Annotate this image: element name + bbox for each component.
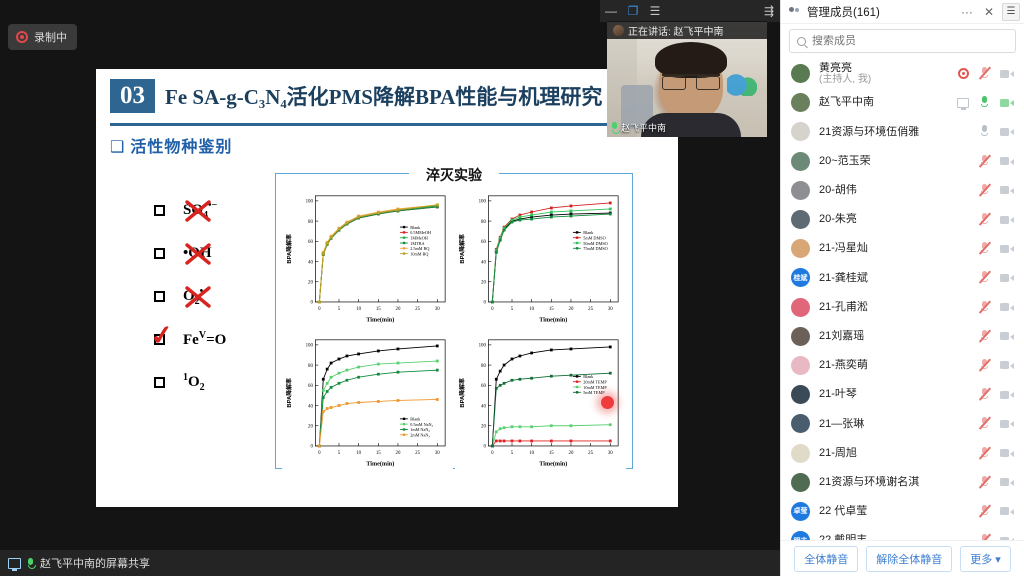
camera-off-icon[interactable] [1000, 244, 1014, 254]
svg-text:5mM DMSO: 5mM DMSO [583, 235, 605, 240]
participant-name-text: 21-冯星灿 [819, 242, 868, 254]
participant-name-text: 21-周旭 [819, 447, 857, 459]
svg-text:60: 60 [308, 240, 313, 245]
screen-share-icon[interactable] [957, 98, 969, 108]
participant-name-text: 21-龚桂斌 [819, 272, 868, 284]
avatar [791, 385, 810, 404]
screen-share-icon [8, 558, 21, 569]
participant-row[interactable]: 21资源与环境伍俏雅 [781, 117, 1024, 146]
svg-text:100: 100 [479, 343, 487, 348]
svg-text:80: 80 [308, 363, 313, 368]
svg-text:Blank: Blank [583, 374, 594, 379]
participant-status-icons [978, 155, 1014, 168]
mic-muted-icon[interactable] [978, 447, 991, 460]
svg-text:2mM NaN₃: 2mM NaN₃ [410, 432, 430, 437]
svg-text:20: 20 [569, 307, 574, 312]
video-person-glasses [662, 74, 720, 87]
panel-menu-icon[interactable]: ☰ [1002, 3, 1020, 21]
active-speaker-bar: 正在讲话: 赵飞平中南 [607, 21, 767, 39]
mic-muted-icon[interactable] [978, 271, 991, 284]
mic-muted-icon[interactable] [978, 359, 991, 372]
participant-row[interactable]: 黄亮亮(主持人, 我) [781, 59, 1024, 88]
svg-text:10: 10 [529, 450, 534, 455]
avatar [791, 93, 810, 112]
mic-muted-icon[interactable] [978, 213, 991, 226]
participant-name: 21资源与环境谢名淇 [819, 476, 978, 489]
avatar [791, 122, 810, 141]
mic-muted-icon[interactable] [978, 242, 991, 255]
participant-row[interactable]: 21-孔甫淞 [781, 293, 1024, 322]
participant-row[interactable]: 20-朱亮 [781, 205, 1024, 234]
checkbox-icon [154, 248, 165, 259]
avatar [791, 327, 810, 346]
species-checkbox [154, 377, 183, 388]
mic-on-icon-sharebar [27, 558, 34, 569]
svg-text:25: 25 [415, 450, 420, 455]
people-icon [789, 6, 802, 17]
slide-title-row: 03 Fe SA-g-C₃N₄活化PMS降解BPA性能与机理研究 [110, 79, 602, 113]
svg-text:25: 25 [588, 450, 593, 455]
menu-button[interactable]: ☰ [644, 0, 666, 22]
svg-text:10mM BQ: 10mM BQ [410, 251, 428, 256]
participant-status-icons [978, 184, 1014, 197]
checkbox-icon [154, 205, 165, 216]
camera-off-icon[interactable] [1000, 390, 1014, 400]
participant-name-text: 21-孔甫淞 [819, 301, 868, 313]
participant-name: 21-龚桂斌 [819, 272, 978, 285]
avatar [791, 414, 810, 433]
recording-label: 录制中 [34, 29, 67, 45]
mic-muted-icon[interactable] [978, 67, 991, 80]
participant-name-text: 21资源与环境谢名淇 [819, 476, 919, 488]
svg-text:10: 10 [356, 450, 361, 455]
svg-text:50mM DMSO: 50mM DMSO [583, 241, 608, 246]
search-icon [797, 37, 806, 46]
camera-on-icon[interactable] [1000, 98, 1014, 108]
svg-text:Blank: Blank [410, 225, 421, 230]
chart-quenching-2: 051015202530020406080100Time(min)BPA降解率B… [455, 186, 626, 328]
species-formula: 1O2 [183, 372, 205, 393]
participant-name: 22 代卓莹 [819, 505, 978, 518]
presentation-slide: 03 Fe SA-g-C₃N₄活化PMS降解BPA性能与机理研究 ❑活性物种鉴别… [96, 69, 678, 507]
svg-text:Time(min): Time(min) [366, 460, 394, 467]
avatar: 卓莹 [791, 502, 810, 521]
avatar [791, 298, 810, 317]
svg-text:Time(min): Time(min) [539, 460, 567, 467]
participant-row[interactable]: 21—张琳 [781, 409, 1024, 438]
participant-name: 21刘嘉瑶 [819, 330, 978, 343]
participant-name-text: 赵飞平中南 [819, 96, 874, 108]
camera-off-icon[interactable] [1000, 360, 1014, 370]
svg-text:Blank: Blank [583, 230, 594, 235]
participant-name: 21-叶琴 [819, 388, 978, 401]
avatar [791, 356, 810, 375]
layout-settings-button[interactable]: ⇶ [758, 0, 780, 22]
species-formula: O2•− [183, 286, 209, 307]
participant-name-text: 21-叶琴 [819, 388, 857, 400]
participant-status-icons [978, 213, 1014, 226]
more-options-button[interactable]: ··· [958, 5, 976, 19]
svg-text:2.5mM BQ: 2.5mM BQ [410, 246, 429, 251]
svg-text:10: 10 [529, 307, 534, 312]
record-icon [16, 31, 28, 43]
camera-off-icon[interactable] [1000, 506, 1014, 516]
svg-text:80: 80 [481, 220, 486, 225]
mic-muted-icon[interactable] [978, 534, 991, 540]
svg-text:40: 40 [308, 404, 313, 409]
search-box[interactable] [789, 29, 1016, 53]
svg-text:0: 0 [318, 307, 321, 312]
svg-text:20: 20 [396, 307, 401, 312]
slide-subhead-text: 活性物种鉴别 [130, 139, 232, 156]
avatar [791, 152, 810, 171]
svg-text:0: 0 [484, 301, 487, 306]
species-checkbox [154, 248, 183, 259]
svg-text:5mM TEMP: 5mM TEMP [583, 390, 605, 395]
svg-text:0: 0 [491, 307, 494, 312]
participant-list[interactable]: 黄亮亮(主持人, 我)赵飞平中南21资源与环境伍俏雅20~范玉荣20-胡伟20-… [781, 59, 1024, 540]
participant-status-icons [978, 271, 1014, 284]
participant-row[interactable]: 赵飞平中南 [781, 88, 1024, 117]
search-area [781, 24, 1024, 59]
svg-text:5: 5 [338, 450, 341, 455]
participant-name: 21—张琳 [819, 418, 978, 431]
camera-off-icon[interactable] [1000, 448, 1014, 458]
species-formula: •OH [183, 245, 212, 262]
svg-text:0: 0 [318, 450, 321, 455]
species-checkbox: ✓ [154, 334, 183, 345]
participants-panel: 管理成员(161) ··· ✕ ☰ 黄亮亮(主持人, 我)赵飞平中南21资源与环… [780, 0, 1024, 576]
slide-section-number: 03 [110, 79, 155, 113]
participant-name: 21资源与环境伍俏雅 [819, 126, 978, 139]
mic-muted-icon[interactable] [978, 417, 991, 430]
video-bg-logo [727, 74, 757, 96]
participant-name: 21-孔甫淞 [819, 301, 978, 314]
camera-off-icon[interactable] [1000, 69, 1014, 79]
avatar [791, 444, 810, 463]
participant-status-icons [978, 125, 1014, 138]
participant-status-icons [978, 359, 1014, 372]
chart-quenching-1: 051015202530020406080100Time(min)BPA降解率B… [282, 186, 453, 328]
svg-text:20: 20 [396, 450, 401, 455]
close-icon[interactable]: ✕ [981, 5, 997, 19]
svg-text:BPA降解率: BPA降解率 [458, 377, 466, 407]
avatar [791, 210, 810, 229]
chart-grid: 051015202530020406080100Time(min)BPA降解率B… [282, 186, 626, 462]
svg-text:20: 20 [569, 450, 574, 455]
mic-muted-icon[interactable] [978, 301, 991, 314]
svg-text:40: 40 [481, 260, 486, 265]
camera-off-icon[interactable] [1000, 477, 1014, 487]
svg-text:15: 15 [376, 450, 381, 455]
camera-off-icon[interactable] [1000, 419, 1014, 429]
svg-text:15: 15 [376, 307, 381, 312]
restore-button[interactable]: ❐ [622, 0, 644, 22]
svg-text:BPA降解率: BPA降解率 [285, 234, 293, 264]
title-divider [110, 123, 663, 126]
svg-text:60: 60 [308, 384, 313, 389]
participant-row[interactable]: 21资源与环境谢名淇 [781, 468, 1024, 497]
more-button[interactable]: 更多 ▾ [960, 546, 1011, 572]
camera-off-icon[interactable] [1000, 331, 1014, 341]
svg-text:75mM DMSO: 75mM DMSO [583, 246, 608, 251]
participant-name-text: 21刘嘉瑶 [819, 330, 864, 342]
mic-inactive-icon[interactable] [978, 125, 991, 138]
participant-status-icons [958, 67, 1014, 80]
svg-text:1MMeOH: 1MMeOH [410, 235, 428, 240]
participant-name: 赵飞平中南 [819, 96, 957, 109]
svg-text:0.5MMeOH: 0.5MMeOH [410, 230, 431, 235]
participant-status-icons [978, 447, 1014, 460]
svg-text:5: 5 [511, 450, 514, 455]
species-checkbox [154, 291, 183, 302]
svg-text:40: 40 [481, 404, 486, 409]
svg-text:30: 30 [608, 450, 613, 455]
minimize-button[interactable]: — [600, 0, 622, 22]
participant-row[interactable]: 20~范玉荣 [781, 147, 1024, 176]
participant-name: 20~范玉荣 [819, 155, 978, 168]
camera-off-icon[interactable] [1000, 273, 1014, 283]
chart-panel: 051015202530020406080100Time(min)BPA降解率B… [275, 173, 633, 469]
speaker-avatar [613, 25, 624, 36]
participant-status-icons [957, 96, 1014, 109]
participant-name-text: 20-朱亮 [819, 213, 857, 225]
svg-text:15: 15 [549, 307, 554, 312]
participant-status-icons [978, 476, 1014, 489]
svg-text:1MTBA: 1MTBA [410, 241, 425, 246]
screen-share-bar: 赵飞平中南的屏幕共享 [0, 550, 780, 576]
svg-text:100: 100 [306, 200, 314, 205]
svg-text:BPA降解率: BPA降解率 [458, 234, 466, 264]
slide-subhead: ❑活性物种鉴别 [110, 133, 232, 157]
participant-name-text: 21资源与环境伍俏雅 [819, 126, 919, 138]
participant-name: 20-胡伟 [819, 184, 978, 197]
checkbox-icon [154, 334, 165, 345]
svg-text:20: 20 [308, 424, 313, 429]
participant-name-text: 21—张琳 [819, 418, 864, 430]
recording-indicator: 录制中 [8, 24, 77, 50]
svg-text:60: 60 [481, 240, 486, 245]
participant-status-icons [978, 242, 1014, 255]
participant-name-text: 黄亮亮 [819, 62, 958, 75]
svg-text:0: 0 [311, 444, 314, 449]
svg-text:20mM TEMP: 20mM TEMP [583, 379, 607, 384]
avatar: 桂斌 [791, 268, 810, 287]
participant-row[interactable]: 21-周旭 [781, 438, 1024, 467]
participant-name-text: 21-燕奕萌 [819, 359, 868, 371]
svg-text:20: 20 [481, 281, 486, 286]
svg-text:40: 40 [308, 260, 313, 265]
participant-name-text: 20-胡伟 [819, 184, 857, 196]
participant-row[interactable]: 21-叶琴 [781, 380, 1024, 409]
meeting-window: 录制中 03 Fe SA-g-C₃N₄活化PMS降解BPA性能与机理研究 ❑活性… [0, 0, 1024, 576]
participant-name-text: 22 代卓莹 [819, 505, 867, 517]
participant-row[interactable]: 桂斌21-龚桂斌 [781, 263, 1024, 292]
svg-text:80: 80 [481, 363, 486, 368]
participant-role: (主持人, 我) [819, 74, 958, 86]
search-input[interactable] [812, 35, 1008, 47]
camera-off-icon[interactable] [1000, 156, 1014, 166]
svg-text:25: 25 [415, 307, 420, 312]
camera-off-icon[interactable] [1000, 302, 1014, 312]
svg-text:10mM TEMP: 10mM TEMP [583, 384, 607, 389]
participant-name: 21-周旭 [819, 447, 978, 460]
mic-muted-icon[interactable] [978, 505, 991, 518]
mute-all-button[interactable]: 全体静音 [794, 546, 858, 572]
svg-text:1mM NaN₃: 1mM NaN₃ [410, 427, 430, 432]
svg-text:100: 100 [306, 343, 314, 348]
active-speaker-label: 正在讲话: 赵飞平中南 [628, 23, 724, 38]
camera-off-icon[interactable] [1000, 215, 1014, 225]
species-checkbox [154, 205, 183, 216]
svg-text:25: 25 [588, 307, 593, 312]
svg-text:Time(min): Time(min) [539, 317, 567, 324]
svg-text:15: 15 [549, 450, 554, 455]
participant-status-icons [978, 417, 1014, 430]
species-formula: FeV=O [183, 330, 226, 349]
checkbox-icon [154, 291, 165, 302]
svg-text:80: 80 [308, 220, 313, 225]
participant-status-icons [978, 505, 1014, 518]
avatar [791, 473, 810, 492]
mic-muted-icon[interactable] [978, 388, 991, 401]
video-person-hair [655, 42, 727, 78]
video-name-label: 赵飞平中南 [621, 121, 666, 134]
participant-name: 20-朱亮 [819, 213, 978, 226]
svg-text:30: 30 [435, 307, 440, 312]
participant-row[interactable]: 21刘嘉瑶 [781, 322, 1024, 351]
unmute-all-button[interactable]: 解除全体静音 [866, 546, 952, 572]
svg-text:BPA降解率: BPA降解率 [285, 377, 293, 407]
participant-status-icons [978, 301, 1014, 314]
svg-text:0: 0 [311, 301, 314, 306]
participants-panel-title: 管理成员(161) [807, 4, 953, 20]
mic-muted-icon[interactable] [978, 330, 991, 343]
svg-text:20: 20 [481, 424, 486, 429]
mic-muted-icon[interactable] [978, 476, 991, 489]
mic-on-icon[interactable] [978, 96, 991, 109]
chart-quenching-3: 051015202530020406080100Time(min)BPA降解率B… [282, 330, 453, 472]
camera-off-icon[interactable] [1000, 536, 1014, 540]
svg-text:10: 10 [356, 307, 361, 312]
shared-screen-stage: 录制中 03 Fe SA-g-C₃N₄活化PMS降解BPA性能与机理研究 ❑活性… [0, 0, 780, 576]
svg-text:30: 30 [435, 450, 440, 455]
share-bar-label: 赵飞平中南的屏幕共享 [40, 555, 150, 571]
participant-name-text: 20~范玉荣 [819, 155, 871, 167]
participant-name: 黄亮亮(主持人, 我) [819, 62, 958, 86]
svg-text:30: 30 [608, 307, 613, 312]
participant-row[interactable]: 卓莹22 代卓莹 [781, 497, 1024, 526]
avatar: 明丰 [791, 531, 810, 540]
camera-off-icon[interactable] [1000, 185, 1014, 195]
mic-muted-icon[interactable] [978, 184, 991, 197]
laser-pointer [601, 396, 614, 409]
participant-row[interactable]: 21-冯星灿 [781, 234, 1024, 263]
participants-panel-footer: 全体静音 解除全体静音 更多 ▾ [781, 540, 1024, 576]
participant-row[interactable]: 21-燕奕萌 [781, 351, 1024, 380]
participant-row[interactable]: 20-胡伟 [781, 176, 1024, 205]
species-formula: SO4•− [183, 200, 217, 221]
svg-text:5: 5 [338, 307, 341, 312]
svg-text:Time(min): Time(min) [366, 317, 394, 324]
mic-on-icon [611, 122, 618, 133]
participant-status-icons [978, 330, 1014, 343]
svg-text:Blank: Blank [410, 416, 421, 421]
participant-row[interactable]: 明丰22 戴明丰 [781, 526, 1024, 540]
avatar [791, 239, 810, 258]
svg-text:0.5mM NaN₃: 0.5mM NaN₃ [410, 421, 433, 426]
chart-panel-title: 淬灭实验 [409, 165, 499, 185]
svg-text:60: 60 [481, 384, 486, 389]
svg-text:5: 5 [511, 307, 514, 312]
participants-panel-header: 管理成员(161) ··· ✕ ☰ [781, 0, 1024, 24]
svg-text:100: 100 [479, 200, 487, 205]
participant-name: 21-冯星灿 [819, 242, 978, 255]
svg-text:0: 0 [491, 450, 494, 455]
red-cross-icon [183, 239, 213, 269]
camera-off-icon[interactable] [1000, 127, 1014, 137]
video-name-overlay: 赵飞平中南 [611, 121, 666, 134]
recording-icon[interactable] [958, 68, 969, 79]
checkbox-icon [154, 377, 165, 388]
window-controls: — ❐ ☰ ⇶ [600, 0, 780, 22]
slide-title: Fe SA-g-C₃N₄活化PMS降解BPA性能与机理研究 [165, 81, 602, 111]
mic-muted-icon[interactable] [978, 155, 991, 168]
avatar [791, 64, 810, 83]
participant-name: 21-燕奕萌 [819, 359, 978, 372]
svg-text:0: 0 [484, 444, 487, 449]
svg-text:20: 20 [308, 281, 313, 286]
participant-status-icons [978, 388, 1014, 401]
avatar [791, 181, 810, 200]
bullet-square-icon: ❑ [110, 139, 125, 156]
